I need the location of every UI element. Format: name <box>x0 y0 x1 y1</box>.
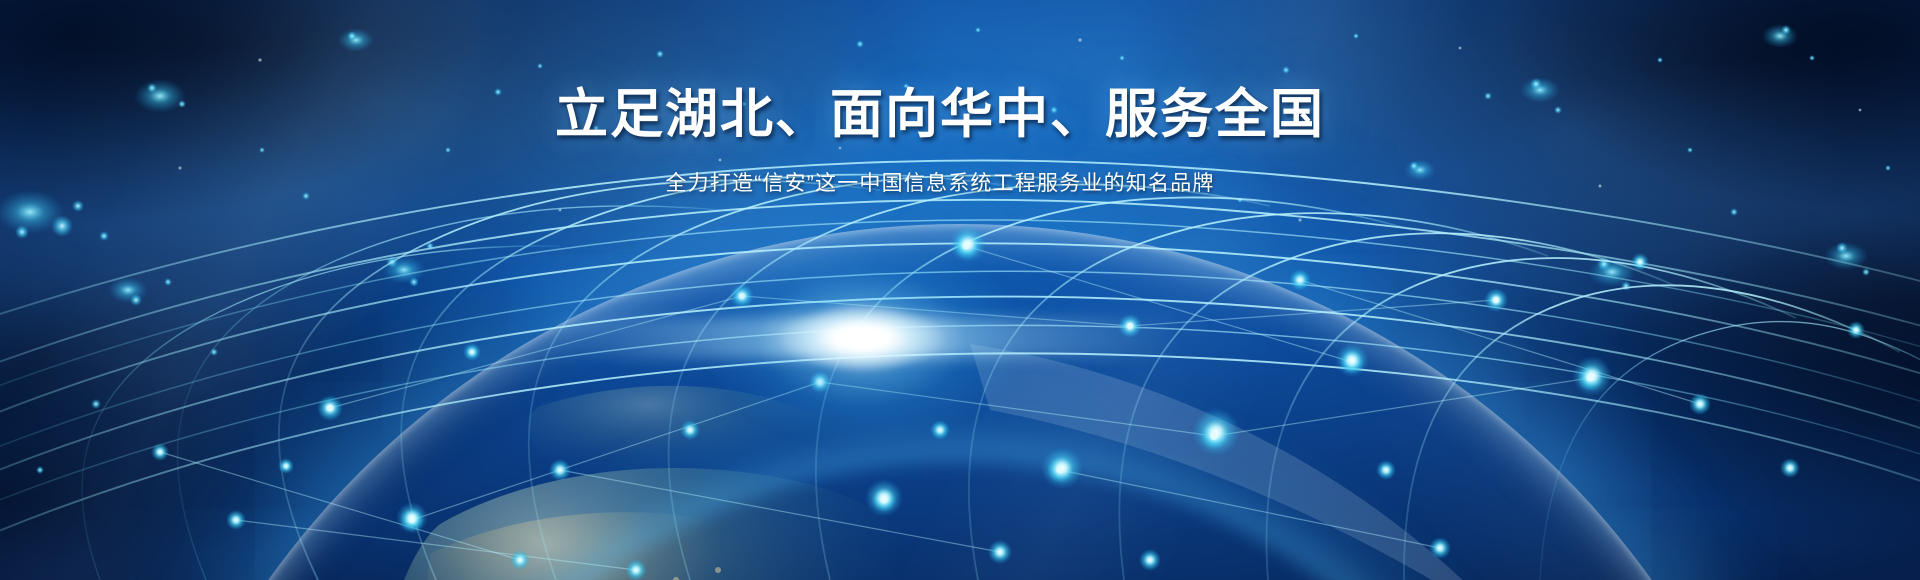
banner-copy: 立足湖北、面向华中、服务全国 全力打造“信安”这一中国信息系统工程服务业的知名品… <box>0 84 1920 198</box>
page-subtitle: 全力打造“信安”这一中国信息系统工程服务业的知名品牌 <box>0 169 1920 198</box>
hero-banner: 立足湖北、面向华中、服务全国 全力打造“信安”这一中国信息系统工程服务业的知名品… <box>0 0 1920 580</box>
page-title: 立足湖北、面向华中、服务全国 <box>0 84 1920 147</box>
